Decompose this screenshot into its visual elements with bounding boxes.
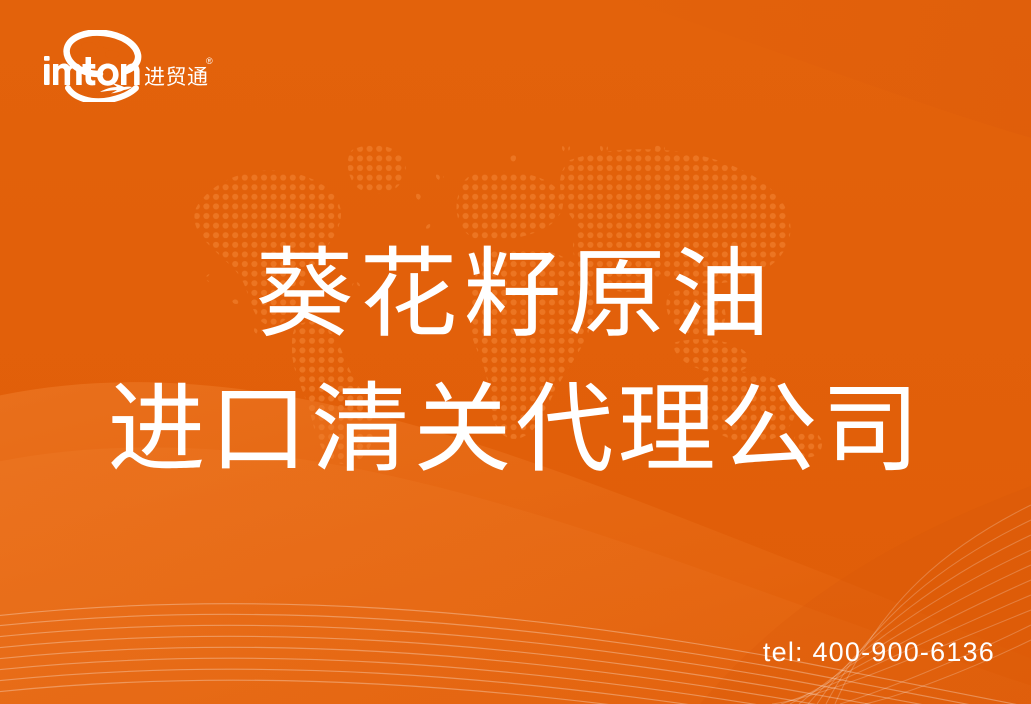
logo-wordmark-chinese: 进贸通 xyxy=(144,65,209,89)
brand-logo[interactable]: 进贸通 ® xyxy=(38,30,218,102)
airplane-swoosh-icon xyxy=(68,83,136,101)
contact-telephone[interactable]: tel: 400-900-6136 xyxy=(763,637,995,668)
poster-canvas: 进贸通 ® 葵花籽原油 进口清关代理公司 tel: 400-900-6136 xyxy=(0,0,1031,704)
headline-line-1: 葵花籽原油 xyxy=(0,232,1031,359)
registered-trademark-icon: ® xyxy=(206,56,213,66)
headline-line-2: 进口清关代理公司 xyxy=(0,367,1031,494)
page-title: 葵花籽原油 进口清关代理公司 xyxy=(0,232,1031,495)
